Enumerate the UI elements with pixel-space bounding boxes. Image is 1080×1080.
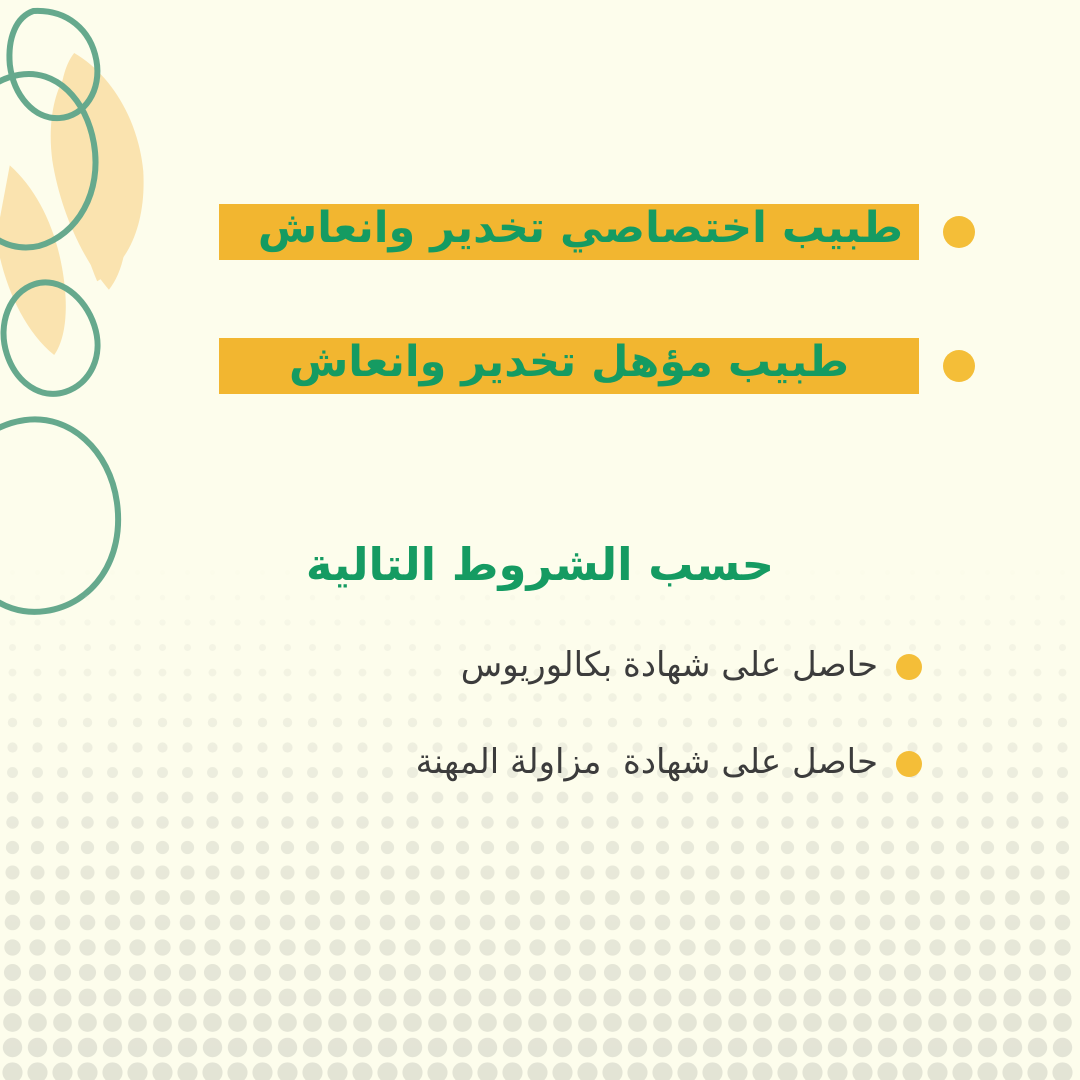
condition-row: حاصل على شهادة مزاولة المهنة [0, 743, 1080, 786]
poster-content: طبيب اختصاصي تخدير وانعاش طبيب مؤهل تخدي… [0, 0, 1080, 1080]
yellow-dot-bullet-icon [943, 350, 975, 382]
condition-label: حاصل على شهادة بكالوريوس [461, 644, 878, 687]
role-label: طبيب اختصاصي تخدير وانعاش [229, 207, 909, 250]
role-row: طبيب مؤهل تخدير وانعاش [0, 330, 1080, 402]
yellow-dot-bullet-icon [943, 216, 975, 248]
role-label: طبيب مؤهل تخدير وانعاش [229, 341, 909, 384]
yellow-dot-bullet-icon [896, 654, 922, 680]
condition-row: حاصل على شهادة بكالوريوس [0, 646, 1080, 689]
condition-label: حاصل على شهادة مزاولة المهنة [416, 741, 878, 784]
role-highlight-band: طبيب مؤهل تخدير وانعاش [219, 338, 919, 394]
poster-canvas: طبيب اختصاصي تخدير وانعاش طبيب مؤهل تخدي… [0, 0, 1080, 1080]
role-highlight-band: طبيب اختصاصي تخدير وانعاش [219, 204, 919, 260]
role-row: طبيب اختصاصي تخدير وانعاش [0, 196, 1080, 268]
roles-list: طبيب اختصاصي تخدير وانعاش طبيب مؤهل تخدي… [0, 196, 1080, 464]
conditions-list: حاصل على شهادة بكالوريوس حاصل على شهادة … [0, 646, 1080, 839]
yellow-dot-bullet-icon [896, 751, 922, 777]
conditions-heading: حسب الشروط التالية [170, 540, 910, 590]
